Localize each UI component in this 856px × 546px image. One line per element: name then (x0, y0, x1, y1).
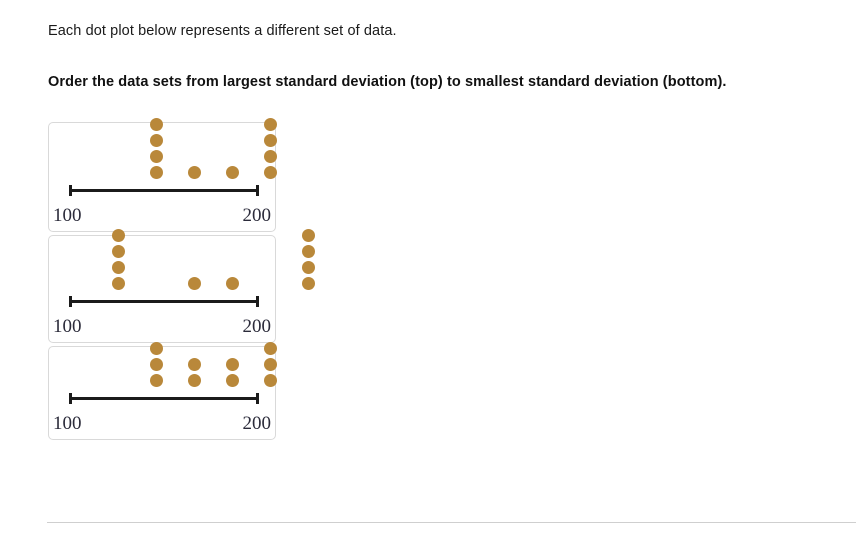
data-dot (112, 261, 125, 274)
dot-plot-canvas-2 (49, 236, 275, 316)
data-dot (150, 374, 163, 387)
axis-line-2 (69, 300, 259, 303)
data-dot (112, 229, 125, 242)
axis-label-min-3: 100 (53, 413, 82, 435)
data-dot (302, 277, 315, 290)
data-dot (150, 134, 163, 147)
data-dot (112, 245, 125, 258)
data-dot (264, 118, 277, 131)
axis-label-max-3: 200 (243, 413, 272, 435)
data-dot (264, 134, 277, 147)
axis-label-max-2: 200 (243, 316, 272, 338)
axis-line-3 (69, 397, 259, 400)
axis-line-1 (69, 189, 259, 192)
data-dot (188, 374, 201, 387)
data-dot (302, 229, 315, 242)
axis-endcap-left-1 (69, 185, 72, 196)
data-dot (188, 358, 201, 371)
data-dot (188, 166, 201, 179)
data-dot (264, 374, 277, 387)
prompt-intro-text: Each dot plot below represents a differe… (48, 21, 397, 41)
axis-labels-1: 100200 (49, 205, 275, 231)
dot-plot-card-3[interactable]: 100200 (48, 346, 276, 440)
axis-endcap-right-3 (256, 393, 259, 404)
data-dot (150, 342, 163, 355)
dot-plot-canvas-3 (49, 347, 275, 413)
data-dot (264, 166, 277, 179)
dot-plot-canvas-1 (49, 123, 275, 205)
page-root: Each dot plot below represents a differe… (0, 0, 856, 546)
axis-labels-3: 100200 (49, 413, 275, 439)
data-dot (188, 277, 201, 290)
dot-plot-list: 100200100200100200 (48, 122, 276, 443)
data-dot (226, 358, 239, 371)
data-dot (302, 245, 315, 258)
axis-labels-2: 100200 (49, 316, 275, 342)
axis-label-max-1: 200 (243, 205, 272, 227)
dot-plot-card-2[interactable]: 100200 (48, 235, 276, 343)
axis-label-min-2: 100 (53, 316, 82, 338)
prompt-task-text: Order the data sets from largest standar… (48, 72, 727, 92)
data-dot (226, 277, 239, 290)
bottom-divider (47, 522, 856, 523)
axis-endcap-right-2 (256, 296, 259, 307)
axis-endcap-left-2 (69, 296, 72, 307)
data-dot (150, 358, 163, 371)
data-dot (264, 358, 277, 371)
data-dot (112, 277, 125, 290)
dot-plot-card-1[interactable]: 100200 (48, 122, 276, 232)
data-dot (264, 342, 277, 355)
axis-label-min-1: 100 (53, 205, 82, 227)
data-dot (264, 150, 277, 163)
data-dot (150, 150, 163, 163)
axis-endcap-right-1 (256, 185, 259, 196)
data-dot (150, 166, 163, 179)
data-dot (150, 118, 163, 131)
data-dot (302, 261, 315, 274)
axis-endcap-left-3 (69, 393, 72, 404)
data-dot (226, 374, 239, 387)
data-dot (226, 166, 239, 179)
